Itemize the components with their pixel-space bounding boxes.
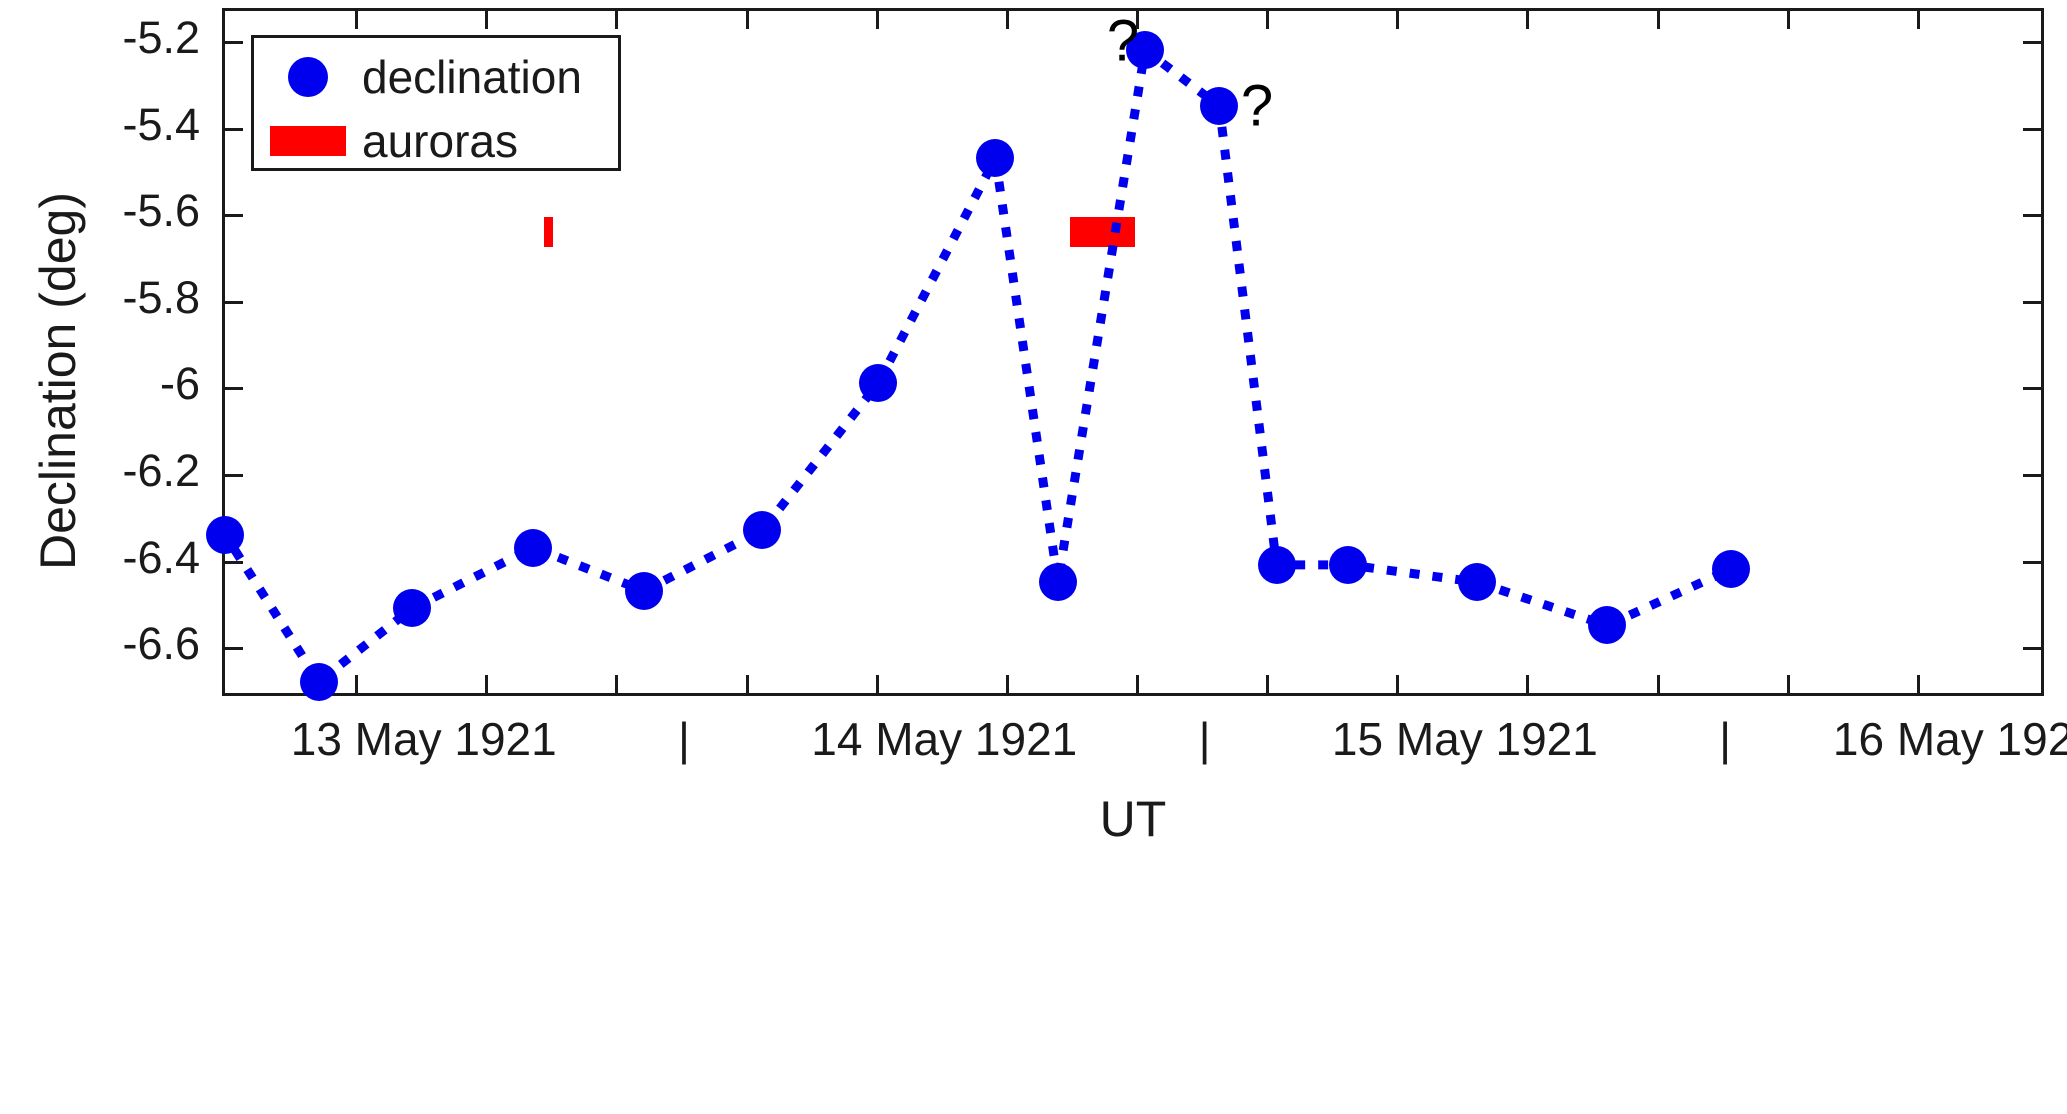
x-axis-tick-bottom [1266, 675, 1269, 693]
x-axis-tick-bottom [355, 675, 358, 693]
x-axis-tick-top [1006, 11, 1009, 29]
blue-circle-icon [288, 57, 328, 97]
data-point-marker [514, 529, 552, 567]
x-axis-tick-bottom [1396, 675, 1399, 693]
x-axis-tick-bottom [1136, 675, 1139, 693]
y-axis-tick-right [2023, 387, 2041, 390]
x-axis-tick-bottom [1657, 675, 1660, 693]
y-axis-tick-label: -5.8 [122, 272, 200, 324]
x-axis-tick-bottom [485, 675, 488, 693]
x-axis-day-separator: | [1199, 712, 1211, 766]
red-rectangle-icon [270, 126, 346, 156]
legend-label-declination: declination [362, 50, 582, 104]
y-axis-tick-label: -5.6 [122, 185, 200, 237]
x-axis-day-separator: | [1719, 712, 1731, 766]
data-point-marker [625, 572, 663, 610]
x-axis-tick-top [876, 11, 879, 29]
x-axis-tick-labels: 13 May 1921|14 May 1921|15 May 1921|16 M… [222, 712, 2044, 782]
y-axis-tick-label: -6.2 [122, 445, 200, 497]
x-axis-tick-bottom [1917, 675, 1920, 693]
y-axis-tick-label: -6 [160, 358, 200, 410]
x-axis-tick-bottom [876, 675, 879, 693]
y-axis-tick-label: -5.2 [122, 12, 200, 64]
y-axis-tick [225, 387, 243, 390]
data-point-marker [1258, 546, 1296, 584]
x-axis-tick-top [746, 11, 749, 29]
x-axis-tick-bottom [746, 675, 749, 693]
y-axis-tick-labels: -5.2-5.4-5.6-5.8-6-6.2-6.4-6.6 [0, 8, 208, 696]
y-axis-tick [225, 647, 243, 650]
data-point-marker [206, 516, 244, 554]
x-axis-day-separator: | [678, 712, 690, 766]
x-axis-tick-top [1266, 11, 1269, 29]
y-axis-tick-right [2023, 214, 2041, 217]
legend-label-auroras: auroras [362, 114, 518, 168]
y-axis-tick-label: -5.4 [122, 99, 200, 151]
x-axis-tick-bottom [615, 675, 618, 693]
x-axis-tick-bottom [1526, 675, 1529, 693]
x-axis-tick-top [1657, 11, 1660, 29]
x-axis-tick-top [485, 11, 488, 29]
y-axis-tick [225, 561, 243, 564]
data-point-marker [1712, 550, 1750, 588]
x-axis-tick-bottom [1006, 675, 1009, 693]
y-axis-tick-label: -6.4 [122, 532, 200, 584]
x-axis-day-label: 14 May 1921 [811, 712, 1077, 766]
legend-item-declination: declination [254, 46, 618, 108]
data-point-marker [1458, 563, 1496, 601]
y-axis-tick [225, 128, 243, 131]
question-mark-annotation: ? [1241, 73, 1273, 140]
legend-marker-declination [254, 57, 362, 97]
y-axis-tick-right [2023, 647, 2041, 650]
y-axis-tick [225, 474, 243, 477]
data-point-marker [1329, 546, 1367, 584]
x-axis-tick-top [1136, 11, 1139, 29]
y-axis-tick [225, 301, 243, 304]
y-axis-tick [225, 41, 243, 44]
data-point-marker [1039, 563, 1077, 601]
plot-area: ?? declination auroras [222, 8, 2044, 696]
question-mark-annotation: ? [1107, 8, 1139, 75]
x-axis-tick-top [615, 11, 618, 29]
y-axis-tick-right [2023, 41, 2041, 44]
x-axis-day-label: 15 May 1921 [1332, 712, 1598, 766]
figure-root: Declination (deg) -5.2-5.4-5.6-5.8-6-6.2… [0, 0, 2067, 1114]
chart-legend: declination auroras [251, 35, 621, 171]
y-axis-tick-right [2023, 301, 2041, 304]
legend-item-auroras: auroras [254, 110, 618, 172]
y-axis-tick-right [2023, 474, 2041, 477]
x-axis-tick-top [1917, 11, 1920, 29]
x-axis-tick-top [1526, 11, 1529, 29]
y-axis-tick-label: -6.6 [122, 618, 200, 670]
y-axis-tick-right [2023, 128, 2041, 131]
legend-marker-auroras [254, 126, 362, 156]
x-axis-tick-top [1787, 11, 1790, 29]
y-axis-tick [225, 214, 243, 217]
data-point-marker [300, 663, 338, 701]
x-axis-day-label: 13 May 1921 [291, 712, 557, 766]
x-axis-title: UT [222, 790, 2044, 848]
x-axis-tick-bottom [1787, 675, 1790, 693]
x-axis-tick-top [1396, 11, 1399, 29]
y-axis-tick-right [2023, 561, 2041, 564]
x-axis-day-label: 16 May 1921 [1833, 712, 2067, 766]
x-axis-tick-top [355, 11, 358, 29]
